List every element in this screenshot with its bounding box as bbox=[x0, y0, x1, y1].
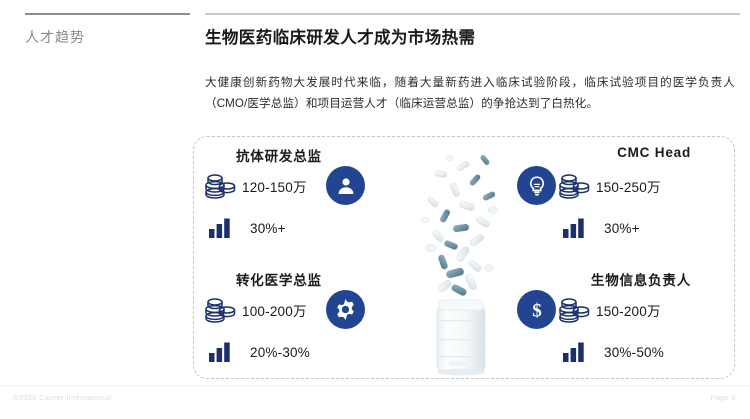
slide-root: 人才趋势 生物医药临床研发人才成为市场热需 大健康创新药物大发展时代来临，随着大… bbox=[0, 0, 750, 419]
svg-text:$: $ bbox=[532, 300, 542, 321]
salary-metric: 150-200万 bbox=[558, 296, 661, 324]
growth-metric: 20%-30% bbox=[208, 341, 310, 363]
growth-metric: 30%+ bbox=[562, 217, 640, 239]
salary-value: 150-250万 bbox=[596, 176, 661, 196]
growth-value: 20%-30% bbox=[250, 345, 310, 360]
growth-value: 30%-50% bbox=[604, 345, 664, 360]
bar-chart-icon bbox=[208, 217, 232, 239]
page-title: 生物医药临床研发人才成为市场热需 bbox=[205, 24, 475, 48]
coin-stack-icon bbox=[204, 172, 238, 200]
growth-value: 30%+ bbox=[250, 221, 286, 236]
growth-metric: 30%+ bbox=[208, 217, 286, 239]
role-title: 抗体研发总监 bbox=[236, 145, 322, 165]
role-title: 生物信息负责人 bbox=[591, 269, 691, 289]
coin-stack-icon bbox=[204, 296, 238, 324]
coin-stack-icon bbox=[558, 296, 592, 324]
salary-metric: 120-150万 bbox=[204, 172, 307, 200]
salary-value: 150-200万 bbox=[596, 300, 661, 320]
rail-divider bbox=[25, 13, 190, 15]
dollar-icon: $ bbox=[517, 290, 556, 329]
coin-stack-icon bbox=[558, 172, 592, 200]
growth-metric: 30%-50% bbox=[562, 341, 664, 363]
page-number: Page 6 bbox=[710, 393, 736, 402]
copyright-text: ©2020 Career International bbox=[13, 393, 111, 402]
body-paragraph: 大健康创新药物大发展时代来临，随着大量新药进入临床试验阶段，临床试验项目的医学负… bbox=[205, 72, 735, 114]
role-card-cmc-head: CMC Head 150-250万 bbox=[500, 142, 735, 254]
salary-metric: 100-200万 bbox=[204, 296, 307, 324]
role-title: CMC Head bbox=[617, 145, 691, 160]
role-title: 转化医学总监 bbox=[236, 269, 322, 289]
heading-divider bbox=[205, 13, 740, 15]
salary-value: 100-200万 bbox=[242, 300, 307, 320]
user-icon bbox=[326, 166, 365, 205]
bar-chart-icon bbox=[208, 341, 232, 363]
role-card-bioinformatics-lead: 生物信息负责人 $ 150-200万 30%-5 bbox=[500, 266, 735, 378]
bar-chart-icon bbox=[562, 217, 586, 239]
bar-chart-icon bbox=[562, 341, 586, 363]
growth-value: 30%+ bbox=[604, 221, 640, 236]
gear-icon bbox=[326, 290, 365, 329]
salary-value: 120-150万 bbox=[242, 176, 307, 196]
section-label: 人才趋势 bbox=[25, 27, 85, 47]
salary-metric: 150-250万 bbox=[558, 172, 661, 200]
role-card-translational-medicine-director: 转化医学总监 100-200万 bbox=[196, 266, 431, 378]
footer-divider bbox=[0, 385, 750, 386]
lightbulb-icon bbox=[517, 166, 556, 205]
role-card-antibody-rnd-director: 抗体研发总监 120-150万 30%+ bbox=[196, 142, 431, 254]
